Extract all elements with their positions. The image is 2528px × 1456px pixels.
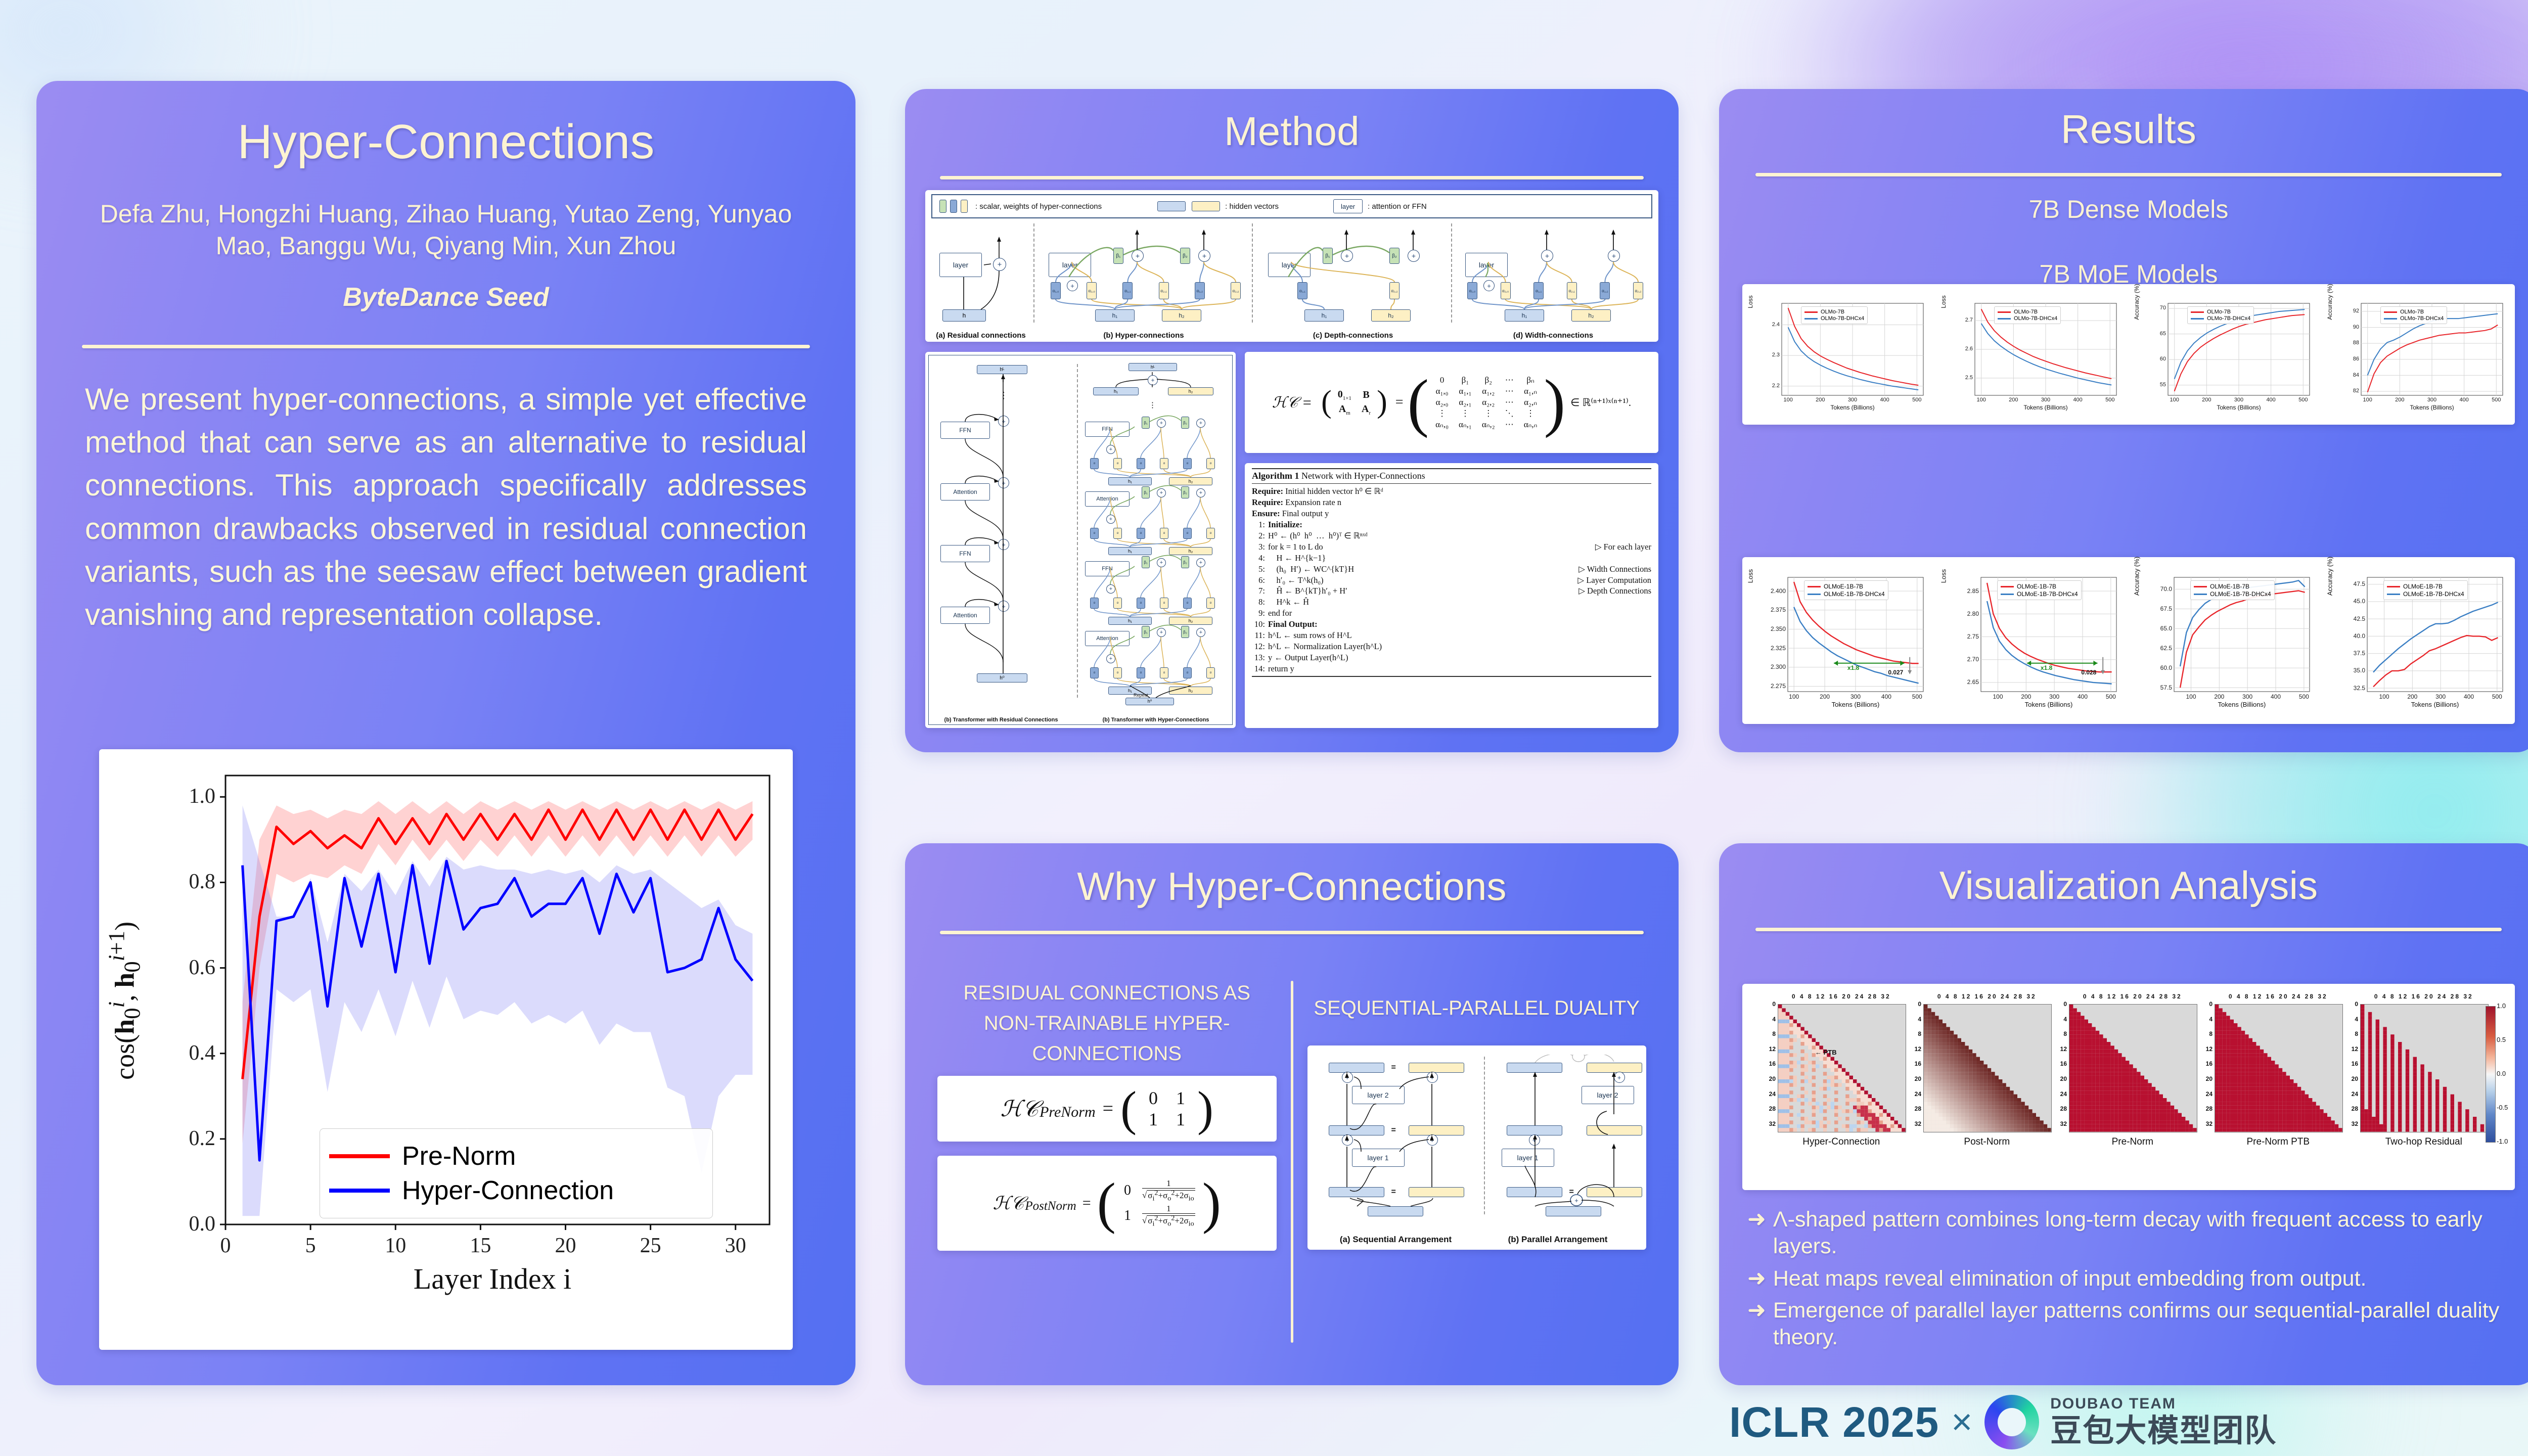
- algorithm-header: Algorithm 1 Network with Hyper-Connectio…: [1252, 469, 1651, 483]
- heatmap-y-tick: 28: [2347, 1105, 2358, 1112]
- heatmap-x-ticks: 0 4 8 12 16 20 24 28 32: [1923, 993, 2051, 1000]
- legend-item: OLMo-7B: [2384, 309, 2444, 315]
- heatmap-y-tick: 12: [1765, 1045, 1776, 1053]
- y-tick: 57.5: [2152, 684, 2172, 691]
- legend-swatch: [2194, 586, 2207, 587]
- legend-label: OLMo-7B: [2207, 309, 2231, 315]
- full-matrix: (0β₁β₂⋯βₙα₁,₀α₁,₁α₁,₂⋯α₁,ₙα₂,₀α₂,₁α₂,₂⋯α…: [1408, 375, 1566, 430]
- chart-legend: OLMo-7BOLMo-7B-DHCx4: [1801, 306, 1868, 324]
- legend-swatch: [2191, 318, 2204, 320]
- line-number: 10:: [1252, 619, 1265, 630]
- panel-divider: [1484, 1057, 1485, 1214]
- abstract-text: We present hyper-connections, a simple y…: [85, 378, 807, 636]
- heatmap-y-tick: 8: [2201, 1030, 2213, 1037]
- x-tick: 0: [211, 1234, 240, 1258]
- y-tick: 42.5: [2345, 615, 2365, 622]
- why-right-heading: SEQUENTIAL-PARALLEL DUALITY: [1314, 978, 1640, 1038]
- panel-divider: [1451, 223, 1452, 323]
- y-axis-label: Loss: [1940, 256, 1947, 348]
- y-tick: 2.5: [1959, 375, 1973, 381]
- svg-text:+: +: [1574, 1197, 1578, 1204]
- heatmap-x-ticks: 0 4 8 12 16 20 24 28 32: [1778, 993, 1905, 1000]
- y-tick: 0.0: [145, 1212, 215, 1236]
- line-text: h^L ← Normalization Layer(h^L): [1268, 641, 1651, 652]
- arrow-icon: ➜: [1747, 1206, 1766, 1233]
- heatmap-x-ticks: 0 4 8 12 16 20 24 28 32: [2360, 993, 2488, 1000]
- heatmap-y-tick: 20: [2347, 1075, 2358, 1082]
- legend-swatch: [1998, 318, 2011, 320]
- heatmap-label: Two-hop Residual: [2353, 1136, 2495, 1148]
- x-axis-label: Tokens (Billions): [1975, 404, 2116, 411]
- brand-chinese: 豆包大模型团队: [2050, 1415, 2277, 1447]
- algorithm-line: 3:for k = 1 to L do▷ For each layer: [1252, 541, 1651, 553]
- x-axis-label: Tokens (Billions): [2174, 701, 2310, 708]
- heatmap-y-tick: 12: [2347, 1045, 2358, 1053]
- subfigure-caption: (b) Transformer with Residual Connection…: [930, 717, 1072, 723]
- legend-label: OLMoE-1B-7B-DHCx4: [2210, 590, 2271, 598]
- y-tick: 1.0: [145, 784, 215, 808]
- line-number: 9:: [1252, 608, 1265, 619]
- heatmap-y-tick: 28: [2201, 1105, 2213, 1112]
- page-title: Hyper-Connections: [36, 114, 855, 170]
- rule-mid: [1252, 483, 1651, 484]
- residual-transformer: hᴸ⋮FFN+Attention+FFN+Attention+h⁰: [937, 362, 1064, 702]
- algorithm-requirement: Require: Expansion rate n: [1252, 497, 1651, 508]
- x-tick: 200: [2210, 693, 2228, 700]
- x-axis-label: Layer Index i: [220, 1262, 764, 1296]
- heatmap-y-tick: 8: [1765, 1030, 1776, 1037]
- chart-legend: OLMo-7BOLMo-7B-DHCx4: [1994, 306, 2061, 324]
- heatmap-y-tick: 0: [1765, 1000, 1776, 1008]
- line-text: Final Output:: [1268, 619, 1651, 630]
- matrix-domain: ∈ ℝ⁽ⁿ⁺¹⁾ˣ⁽ⁿ⁺¹⁾.: [1570, 396, 1631, 409]
- heatmap-label: Pre-Norm: [2062, 1136, 2203, 1148]
- y-axis-label: Accuracy (%): [2133, 519, 2141, 633]
- heatmap-y-tick: 4: [2056, 1016, 2067, 1023]
- heatmap-y-tick: 20: [1765, 1075, 1776, 1082]
- why-title: Why Hyper-Connections: [905, 863, 1679, 909]
- line-number: 7:: [1252, 585, 1265, 597]
- subfigure-caption: (a) Sequential Arrangement: [1313, 1235, 1479, 1245]
- x-tick: 20: [552, 1234, 580, 1258]
- line-number: 4:: [1252, 553, 1265, 564]
- mini-chart: 2.2752.3002.3252.3502.3752.4001002003004…: [1745, 559, 1934, 722]
- line-text: end for: [1268, 608, 1651, 619]
- heatmap-y-tick: 20: [2056, 1075, 2067, 1082]
- y-tick: 0.2: [145, 1126, 215, 1151]
- x-tick: 15: [466, 1234, 494, 1258]
- method-panel: Method : scalar, weights of hyper-connec…: [905, 89, 1679, 752]
- x-tick: 30: [721, 1234, 750, 1258]
- y-tick: 40.0: [2345, 632, 2365, 640]
- y-tick: 32.5: [2345, 685, 2365, 692]
- x-axis-label: Tokens (Billions): [2168, 404, 2310, 411]
- y-tick: 55: [2152, 382, 2166, 388]
- line-comment: ▷ Width Connections: [1578, 564, 1651, 575]
- x-tick: 25: [637, 1234, 665, 1258]
- hidden-vector-chip: [1157, 201, 1186, 211]
- heatmap-y-tick: 32: [2201, 1120, 2213, 1127]
- heatmap-y-tick: 20: [1910, 1075, 1921, 1082]
- panel-divider: [1252, 223, 1253, 323]
- y-tick: 65: [2152, 331, 2166, 337]
- postnorm-content: ℋ𝒞 PostNorm = ( 0 1 √σi2+σo2+2σio 1 1 √σ…: [937, 1156, 1277, 1251]
- subfigure-caption: (b) Transformer with Hyper-Connections: [1080, 717, 1232, 723]
- x-tick: 200: [2004, 397, 2022, 403]
- subfigure-caption: (c) Depth-connections: [1257, 331, 1449, 340]
- colorbar: [2486, 1006, 2496, 1143]
- y-axis-label: Accuracy (%): [2326, 256, 2333, 348]
- conference-label: ICLR 2025: [1729, 1398, 1939, 1447]
- line-number: 13:: [1252, 652, 1265, 663]
- panel-divider: [1033, 223, 1034, 323]
- algorithm-line: 7: Ĥ ← B^{kT}h′₀ + H′▷ Depth Connections: [1252, 585, 1651, 597]
- x-axis-label: Tokens (Billions): [2367, 701, 2503, 708]
- line-text: H ← H^{k−1}: [1268, 553, 1651, 564]
- heatmap-y-tick: 4: [2201, 1016, 2213, 1023]
- finding-text: Emergence of parallel layer patterns con…: [1773, 1297, 2515, 1351]
- line-number: 1:: [1252, 519, 1265, 530]
- dense-models-heading: 7B Dense Models: [1719, 195, 2528, 224]
- prenorm-equation: ℋ𝒞 PreNorm = ( 01 11 ): [937, 1076, 1277, 1142]
- heatmap-y-tick: 12: [1910, 1045, 1921, 1053]
- connection-subfigure: layerh+ (a) Residual connections: [930, 219, 1031, 339]
- x-tick: 400: [1876, 397, 1894, 403]
- x-tick: 100: [2165, 397, 2184, 403]
- line-text: for k = 1 to L do: [1268, 541, 1595, 553]
- legend-swatch: [2387, 594, 2400, 595]
- legend-label: OLMoE-1B-7B: [2403, 583, 2443, 590]
- legend-label: OLMo-7B-DHCx4: [1821, 315, 1864, 322]
- divider: [1755, 928, 2502, 931]
- y-axis-label: Accuracy (%): [2326, 519, 2334, 633]
- subfigure-caption: (d) Width-connections: [1454, 331, 1652, 340]
- x-tick: 400: [2262, 397, 2280, 403]
- scalar-chip: [939, 200, 946, 213]
- heatmap-y-tick: 16: [1765, 1060, 1776, 1067]
- line-text: H⁰ ← (h⁰ h⁰ … h⁰)ᵀ ∈ ℝⁿˣᵈ: [1268, 530, 1651, 541]
- chart-legend: OLMo-7BOLMo-7B-DHCx4: [2187, 306, 2254, 324]
- x-tick: 500: [2487, 397, 2505, 403]
- footer: ICLR 2025 × DOUBAO TEAM 豆包大模型团队: [1729, 1392, 2528, 1452]
- legend-label: OLMo-7B: [2400, 309, 2424, 315]
- scalar-legend-label: : scalar, weights of hyper-connections: [975, 202, 1102, 211]
- heatmap-y-tick: 24: [2347, 1090, 2358, 1098]
- affiliation: ByteDance Seed: [36, 282, 855, 312]
- legend-swatch: [329, 1154, 390, 1158]
- cosine-similarity-chart: 0510152025300.00.20.40.60.81.0Layer Inde…: [99, 749, 793, 1350]
- mini-chart: 828486889092100200300400500Tokens (Billi…: [2325, 286, 2514, 423]
- heatmap-y-tick: 24: [2056, 1090, 2067, 1098]
- y-tick: 60.0: [2152, 664, 2172, 671]
- legend-item: OLMo-7B-DHCx4: [2384, 315, 2444, 322]
- legend-item: Pre-Norm: [329, 1141, 703, 1171]
- heatmap-figure: 0 4 8 12 16 20 24 28 32048121620242832← …: [1742, 984, 2515, 1190]
- line-number: 6:: [1252, 575, 1265, 586]
- heatmap-y-tick: 28: [1765, 1105, 1776, 1112]
- divider: [940, 931, 1644, 934]
- x-tick: 300: [2423, 397, 2441, 403]
- connection-subfigure: layerh₁h₂α₁,₁α₂,₂β₁+β₂+(c) Depth-connect…: [1257, 219, 1449, 339]
- heatmap-y-tick: 28: [2056, 1105, 2067, 1112]
- x-tick: 300: [2230, 397, 2248, 403]
- x-tick: 100: [1779, 397, 1797, 403]
- heatmap-annotation: ← PTB: [1815, 1049, 1837, 1056]
- subfigure-caption: (a) Residual connections: [930, 331, 1031, 340]
- visualization-panel: Visualization Analysis 0 4 8 12 16 20 24…: [1719, 843, 2528, 1385]
- x-axis-label: Tokens (Billions): [2361, 404, 2503, 411]
- prenorm-content: ℋ𝒞 PreNorm = ( 01 11 ): [937, 1076, 1277, 1142]
- y-tick: 2.3: [1766, 352, 1780, 358]
- legend-item: OLMo-7B: [1998, 309, 2057, 315]
- heatmap-y-tick: 8: [2056, 1030, 2067, 1037]
- duality-figure: ===layer 1++layer 2++: [1307, 1045, 1647, 1250]
- heatmap-y-tick: 0: [2347, 1000, 2358, 1008]
- legend-label: Hyper-Connection: [402, 1175, 614, 1206]
- heatmap-y-tick: 32: [1765, 1120, 1776, 1127]
- algorithm-requirement: Ensure: Final output y: [1252, 508, 1651, 519]
- heatmap-y-tick: 12: [2201, 1045, 2213, 1053]
- viz-title: Visualization Analysis: [1719, 862, 2528, 908]
- line-comment: ▷ Layer Computation: [1577, 575, 1651, 586]
- heatmap-x-ticks: 0 4 8 12 16 20 24 28 32: [2215, 993, 2342, 1000]
- finding-item: ➜Heat maps reveal elimination of input e…: [1747, 1265, 2515, 1292]
- line-text: Initialize:: [1268, 519, 1651, 530]
- y-tick: 65.0: [2152, 625, 2172, 632]
- x-tick: 10: [381, 1234, 410, 1258]
- y-tick: 84: [2345, 372, 2359, 378]
- x-tick: 200: [2403, 693, 2421, 700]
- algorithm-content: Algorithm 1 Network with Hyper-Connectio…: [1252, 468, 1651, 724]
- findings-list: ➜Λ-shaped pattern combines long-term dec…: [1747, 1206, 2515, 1356]
- line-number: 5:: [1252, 564, 1265, 575]
- x-tick: 100: [2182, 693, 2200, 700]
- line-number: 11:: [1252, 630, 1265, 641]
- legend-item: OLMoE-1B-7B: [2194, 583, 2271, 590]
- x-tick: 100: [2375, 693, 2394, 700]
- legend-label: OLMo-7B-DHCx4: [2400, 315, 2444, 322]
- legend-swatch: [329, 1189, 390, 1193]
- results-panel: Results 7B Dense Models 2.22.32.41002003…: [1719, 89, 2528, 752]
- transformer-figure: hᴸ⋮FFN+Attention+FFN+Attention+h⁰ (b) Tr…: [925, 352, 1236, 728]
- arrow-icon: ➜: [1747, 1297, 1766, 1324]
- line-text: (h₀ H′) ← WC^{kT}H: [1268, 564, 1578, 575]
- layer-legend-label: : attention or FFN: [1368, 202, 1427, 211]
- sequential-arrangement: ===layer 1++layer 2++: [1315, 1055, 1476, 1216]
- colorbar-tick: -0.5: [2497, 1104, 2508, 1111]
- heatmap-y-tick: 8: [1910, 1030, 1921, 1037]
- heatmap: [2069, 1004, 2197, 1132]
- colorbar-tick: 1.0: [2497, 1002, 2506, 1010]
- line-text: h^L ← sum rows of H^L: [1268, 630, 1651, 641]
- legend-item: OLMo-7B-DHCx4: [1804, 315, 1864, 322]
- connection-subfigure: layerh₁h₂α₁,₀α₂,₀α₁,₁α₂,₁α₁,₂α₂,₂+++(d) …: [1454, 219, 1652, 339]
- algorithm-requirement: Require: Initial hidden vector h⁰ ∈ ℝᵈ: [1252, 486, 1651, 497]
- legend-swatch: [2191, 311, 2204, 313]
- scalar-chip: [950, 200, 957, 213]
- x-tick: 500: [2101, 397, 2119, 403]
- y-tick: 0.4: [145, 1041, 215, 1065]
- y-tick: 2.6: [1959, 346, 1973, 352]
- line-number: 12:: [1252, 641, 1265, 652]
- subfigure-caption: (b) Parallel Arrangement: [1474, 1235, 1641, 1245]
- y-tick: 92: [2345, 308, 2359, 314]
- y-axis-label: Accuracy (%): [2133, 256, 2140, 348]
- author-list: Defa Zhu, Hongzhi Huang, Zihao Huang, Yu…: [92, 198, 800, 262]
- x-tick: 300: [1843, 397, 1862, 403]
- hyper-transformer: hᴸ+h₁h₂⋮FFN+β₁+β₂+ααααααh₁h₂Attention+β₁…: [1085, 362, 1230, 702]
- line-text: H^k ← Ĥ: [1268, 597, 1651, 608]
- line-text: return y: [1268, 663, 1651, 674]
- heatmap-y-tick: 0: [2201, 1000, 2213, 1008]
- y-tick: 37.5: [2345, 650, 2365, 657]
- hidden-legend-label: : hidden vectors: [1225, 202, 1279, 211]
- why-left-heading: RESIDUAL CONNECTIONS AS NON-TRAINABLE HY…: [937, 978, 1277, 1069]
- y-tick: 62.5: [2152, 645, 2172, 652]
- legend-item: OLMo-7B-DHCx4: [2191, 315, 2250, 322]
- title-panel: Hyper-Connections Defa Zhu, Hongzhi Huan…: [36, 81, 855, 1385]
- heatmap-y-tick: 24: [2201, 1090, 2213, 1098]
- separator: ×: [1951, 1401, 1972, 1443]
- mini-chart: 55606570100200300400500Tokens (Billions)…: [2132, 286, 2321, 423]
- mini-chart: 2.652.702.752.802.85100200300400500Token…: [1938, 559, 2128, 722]
- x-tick: 5: [296, 1234, 325, 1258]
- legend-item: OLMo-7B: [2191, 309, 2250, 315]
- y-tick: 60: [2152, 356, 2166, 362]
- x-tick: 300: [2037, 397, 2055, 403]
- legend-swatch: [1804, 311, 1818, 313]
- connection-types-figure: : scalar, weights of hyper-connections: …: [925, 190, 1658, 342]
- x-tick: 400: [2455, 397, 2473, 403]
- x-tick: 500: [1908, 397, 1926, 403]
- algorithm-line: 10:Final Output:: [1252, 619, 1651, 630]
- y-tick: 2.4: [1766, 322, 1780, 328]
- algorithm-line: 13:y ← Output Layer(h^L): [1252, 652, 1651, 663]
- colorbar-tick: 0.5: [2497, 1036, 2506, 1043]
- divider: [1755, 173, 2502, 176]
- y-tick: 0.6: [145, 955, 215, 980]
- parallel-arrangement: =layer 1+layer 2+ +: [1493, 1055, 1654, 1216]
- why-panel: Why Hyper-Connections RESIDUAL CONNECTIO…: [905, 843, 1679, 1385]
- heatmap-y-tick: 20: [2201, 1075, 2213, 1082]
- legend-item: OLMoE-1B-7B-DHCx4: [2194, 590, 2271, 598]
- moe-results-figure: 2.2752.3002.3252.3502.3752.4001002003004…: [1742, 557, 2515, 724]
- heatmap-y-tick: 4: [1765, 1016, 1776, 1023]
- y-tick: 70.0: [2152, 585, 2172, 593]
- algorithm-line: 12:h^L ← Normalization Layer(h^L): [1252, 641, 1651, 652]
- y-axis-label: cos(h0i, h0i+1): [104, 824, 146, 1177]
- method-title: Method: [905, 108, 1679, 155]
- postnorm-equation: ℋ𝒞 PostNorm = ( 0 1 √σi2+σo2+2σio 1 1 √σ…: [937, 1156, 1277, 1251]
- layer-chip: layer: [1333, 199, 1363, 213]
- x-tick: 500: [2295, 693, 2313, 700]
- brand-english: DOUBAO TEAM: [2050, 1396, 2277, 1412]
- line-number: 2:: [1252, 530, 1265, 541]
- heatmap-y-tick: 16: [2201, 1060, 2213, 1067]
- rule-bottom: [1252, 676, 1651, 677]
- heatmap-y-tick: 4: [1910, 1016, 1921, 1023]
- algorithm-line: 6: h′₀ ← T^k(h₀)▷ Layer Computation: [1252, 575, 1651, 586]
- legend-swatch: [1804, 318, 1818, 320]
- y-tick: 35.0: [2345, 667, 2365, 674]
- chart-legend: OLMoE-1B-7BOLMoE-1B-7B-DHCx4: [2190, 580, 2275, 600]
- legend-swatch: [2194, 594, 2207, 595]
- y-tick: 70: [2152, 305, 2166, 311]
- heatmap: [1923, 1004, 2052, 1132]
- heatmap-y-tick: 32: [2056, 1120, 2067, 1127]
- y-tick: 47.5: [2345, 580, 2365, 587]
- x-tick: 400: [2069, 397, 2087, 403]
- x-tick: 100: [2359, 397, 2377, 403]
- legend-label: Pre-Norm: [402, 1141, 516, 1171]
- mini-chart: 2.52.62.7100200300400500Tokens (Billions…: [1938, 286, 2128, 423]
- divider: [82, 345, 810, 348]
- line-comment: ▷ For each layer: [1595, 541, 1651, 553]
- algorithm-line: 5: (h₀ H′) ← WC^{kT}H▷ Width Connections: [1252, 564, 1651, 575]
- algorithm-line: 9:end for: [1252, 608, 1651, 619]
- line-number: 8:: [1252, 597, 1265, 608]
- y-tick: 88: [2345, 340, 2359, 346]
- x-tick: 400: [2267, 693, 2285, 700]
- heatmap-y-tick: 24: [1910, 1090, 1921, 1098]
- chart-legend: Pre-NormHyper-Connection: [320, 1128, 713, 1218]
- finding-item: ➜Emergence of parallel layer patterns co…: [1747, 1297, 2515, 1351]
- algorithm-line: 14:return y: [1252, 663, 1651, 674]
- heatmap-y-tick: 32: [2347, 1120, 2358, 1127]
- legend-item: OLMo-7B-DHCx4: [1998, 315, 2057, 322]
- arrow-icon: ➜: [1747, 1265, 1766, 1292]
- heatmap-label: Pre-Norm PTB: [2207, 1136, 2349, 1148]
- y-tick: 82: [2345, 388, 2359, 394]
- line-text: Ĥ ← B^{kT}h′₀ + H′: [1268, 585, 1578, 597]
- x-axis-label: Tokens (Billions): [1782, 404, 1923, 411]
- heatmap-y-tick: 8: [2347, 1030, 2358, 1037]
- y-tick: 67.5: [2152, 605, 2172, 612]
- legend-label: OLMoE-1B-7B: [2210, 583, 2249, 590]
- x-tick: 200: [1811, 397, 1829, 403]
- heatmap: [2215, 1004, 2343, 1132]
- legend-swatch: [1998, 311, 2011, 313]
- y-tick: 2.2: [1766, 383, 1780, 389]
- subfigure-caption: (b) Hyper-connections: [1037, 331, 1250, 340]
- equation-lhs: ℋ𝒞 =: [1272, 394, 1312, 412]
- y-tick: 2.7: [1959, 317, 1973, 323]
- x-tick: 100: [1972, 397, 1991, 403]
- y-tick: 45.0: [2345, 598, 2365, 605]
- column-divider: [1291, 981, 1293, 1343]
- colorbar-tick: -1.0: [2497, 1137, 2508, 1145]
- y-tick: 86: [2345, 356, 2359, 362]
- legend-item: OLMoE-1B-7B-DHCx4: [2387, 590, 2464, 598]
- y-tick: 0.8: [145, 870, 215, 894]
- x-tick: 300: [2431, 693, 2450, 700]
- block-matrix: ( 01×1B AmAr ): [1321, 388, 1387, 417]
- panel-divider: [1077, 364, 1078, 698]
- legend-label: OLMo-7B-DHCx4: [2207, 315, 2250, 322]
- divider: [940, 176, 1644, 179]
- legend-label: OLMoE-1B-7B-DHCx4: [2403, 590, 2464, 598]
- colorbar-tick: 0.0: [2497, 1070, 2506, 1077]
- mini-chart: 2.22.32.4100200300400500Tokens (Billions…: [1745, 286, 1934, 423]
- x-tick: 300: [2238, 693, 2256, 700]
- algorithm-line: 11:h^L ← sum rows of H^L: [1252, 630, 1651, 641]
- algorithm-line: 2:H⁰ ← (h⁰ h⁰ … h⁰)ᵀ ∈ ℝⁿˣᵈ: [1252, 530, 1651, 541]
- algorithm-box: Algorithm 1 Network with Hyper-Connectio…: [1245, 463, 1658, 728]
- legend-label: OLMo-7B: [2014, 309, 2038, 315]
- x-tick: 200: [2197, 397, 2216, 403]
- legend-swatch: [2384, 311, 2397, 313]
- algorithm-line: 4: H ← H^{k−1}: [1252, 553, 1651, 564]
